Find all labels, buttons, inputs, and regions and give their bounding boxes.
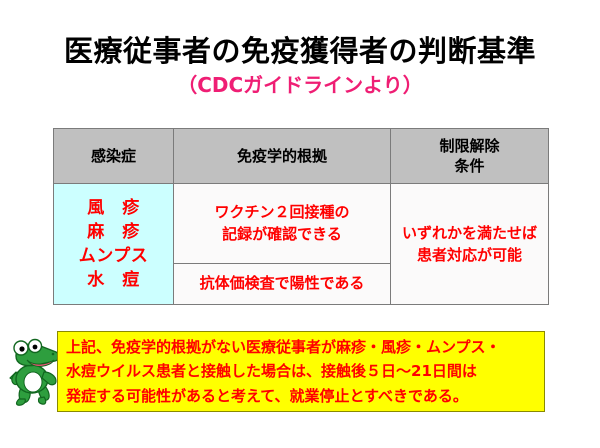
column-header-release: 制限解除 条件 — [391, 129, 549, 184]
cell-evidence-antibody: 抗体価検査で陽性である — [174, 264, 391, 305]
note-line-2: 水痘ウイルス患者と接触した場合は、接触後５日〜21日間は — [66, 359, 536, 383]
release-condition-line1: いずれかを満たせば — [391, 222, 548, 245]
disease-item-mumps: ムンプス — [54, 244, 173, 268]
release-condition-line2: 患者対応が可能 — [391, 244, 548, 267]
page-title: 医療従事者の免疫獲得者の判断基準 — [0, 34, 600, 69]
column-header-release-line1: 制限解除 — [391, 136, 548, 156]
title-block: 医療従事者の免疫獲得者の判断基準 （CDCガイドラインより） — [0, 34, 600, 97]
evidence-vaccination-line1: ワクチン２回接種の — [174, 202, 390, 224]
evidence-vaccination-line2: 記録が確認できる — [174, 224, 390, 246]
cell-evidence-vaccination: ワクチン２回接種の 記録が確認できる — [174, 184, 391, 264]
frog-mascot-icon — [6, 334, 62, 408]
cell-disease-list: 風 疹 麻 疹 ムンプス 水 痘 — [54, 184, 174, 305]
note-line-1: 上記、免疫学的根拠がない医療従事者が麻疹・風疹・ムンプス・ — [66, 335, 536, 359]
note-line-3: 発症する可能性があると考えて、就業停止とすべきである。 — [66, 384, 536, 408]
column-header-evidence: 免疫学的根拠 — [174, 129, 391, 184]
page-subtitle: （CDCガイドラインより） — [0, 73, 600, 97]
column-header-release-line2: 条件 — [391, 156, 548, 176]
cell-release-condition: いずれかを満たせば 患者対応が可能 — [391, 184, 549, 305]
disease-item-varicella: 水 痘 — [54, 268, 173, 292]
disease-item-measles: 麻 疹 — [54, 220, 173, 244]
disease-item-rubella: 風 疹 — [54, 196, 173, 220]
table-header-row: 感染症 免疫学的根拠 制限解除 条件 — [54, 129, 549, 184]
criteria-table: 感染症 免疫学的根拠 制限解除 条件 風 疹 麻 疹 ムンプス 水 痘 ワクチン… — [53, 128, 549, 305]
table-row: 風 疹 麻 疹 ムンプス 水 痘 ワクチン２回接種の 記録が確認できる いずれか… — [54, 184, 549, 264]
column-header-disease: 感染症 — [54, 129, 174, 184]
note-box: 上記、免疫学的根拠がない医療従事者が麻疹・風疹・ムンプス・ 水痘ウイルス患者と接… — [57, 331, 545, 412]
